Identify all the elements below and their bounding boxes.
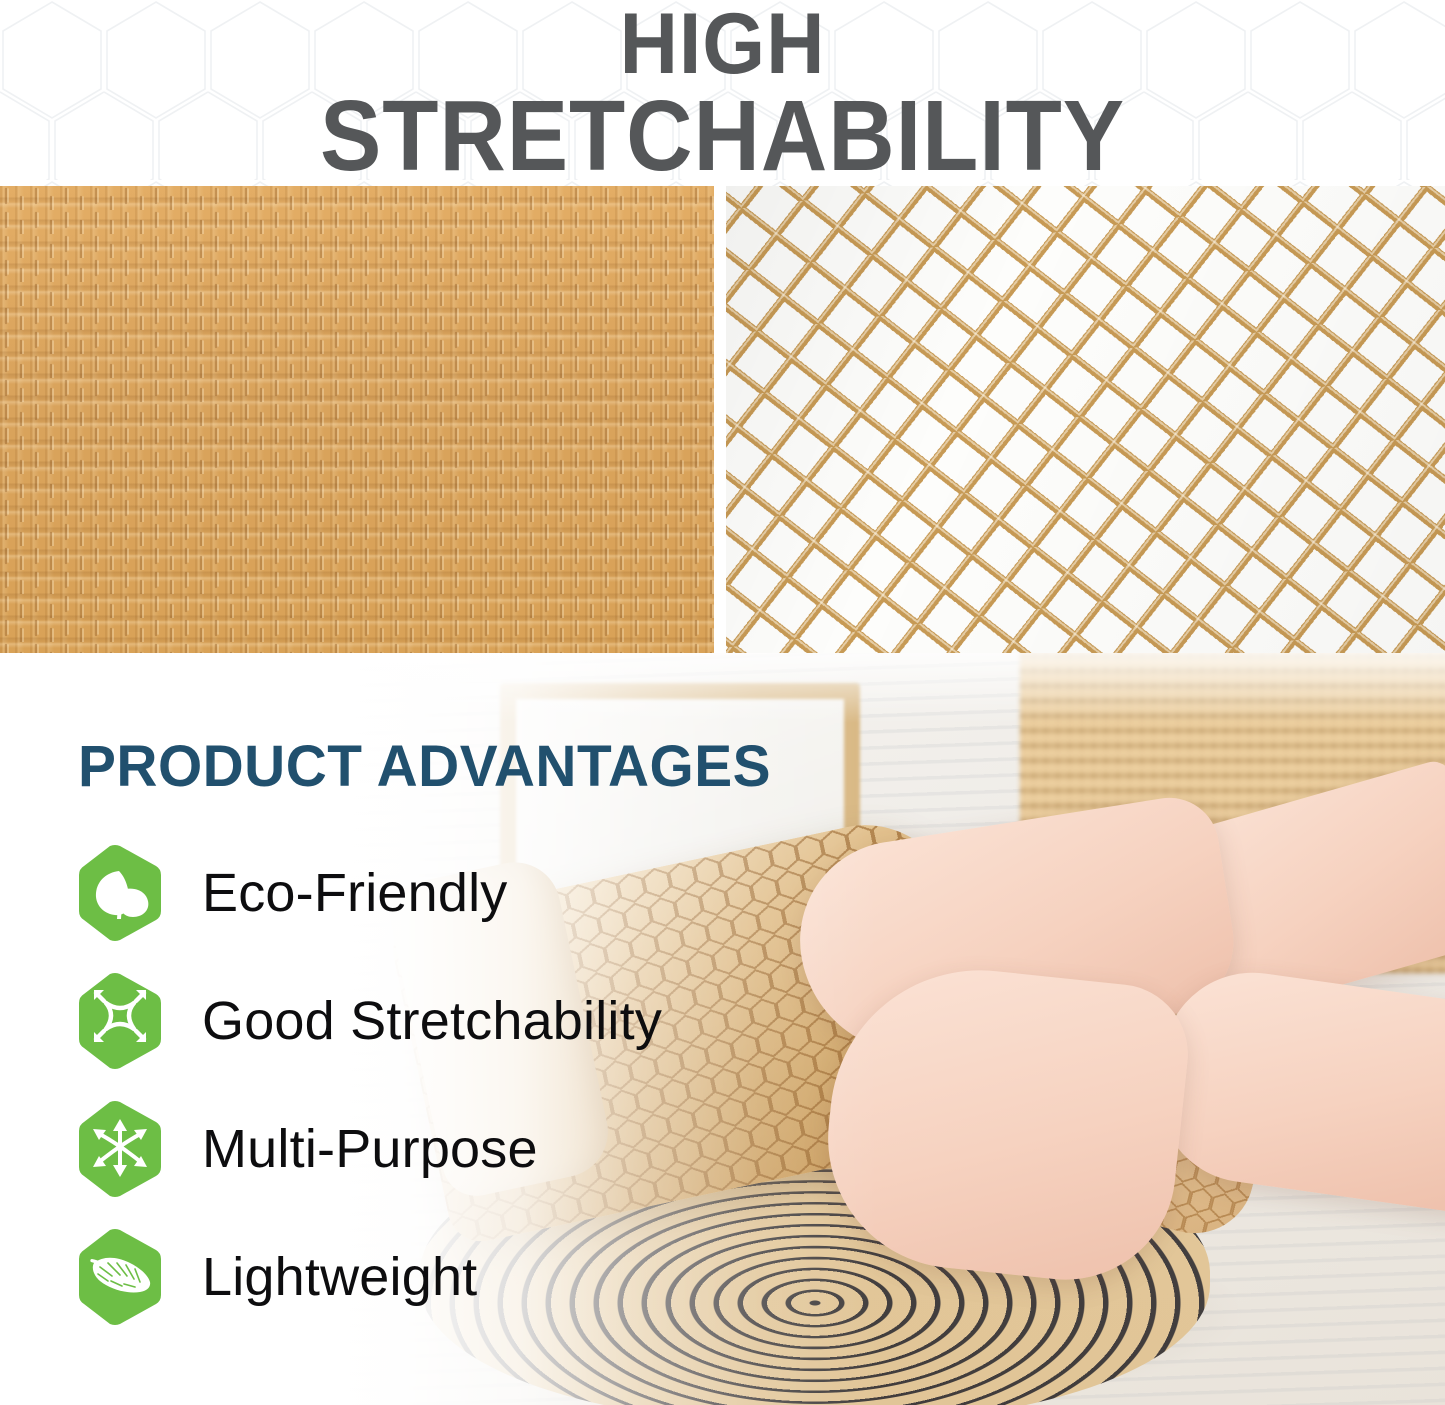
advantages-heading: PRODUCT ADVANTAGES [78, 733, 771, 800]
photo-unstretched-honeycomb [0, 186, 714, 653]
list-item[interactable]: Good Stretchability [78, 957, 978, 1085]
feather-icon [78, 1229, 162, 1325]
list-item[interactable]: Eco-Friendly [78, 829, 978, 957]
list-item-label: Good Stretchability [202, 994, 662, 1048]
header-banner: HIGH STRETCHABILITY [0, 0, 1445, 186]
product-photo-band [0, 186, 1445, 653]
list-item[interactable]: Lightweight [78, 1213, 978, 1341]
advantages-content: PRODUCT ADVANTAGES Eco-Friendly [0, 653, 1445, 1405]
photo-stretched-honeycomb [726, 186, 1445, 653]
title-line-2: STRETCHABILITY [320, 89, 1125, 183]
list-item[interactable]: Multi-Purpose [78, 1085, 978, 1213]
advantages-section: PRODUCT ADVANTAGES Eco-Friendly [0, 653, 1445, 1405]
multi-direction-arrows-icon [78, 1101, 162, 1197]
advantages-list: Eco-Friendly [78, 829, 978, 1341]
page-title: HIGH STRETCHABILITY [0, 0, 1445, 186]
stretch-arrows-icon [78, 973, 162, 1069]
kraft-slit-texture [0, 186, 714, 653]
list-item-label: Lightweight [202, 1250, 477, 1304]
leaf-icon [78, 845, 162, 941]
title-line-1: HIGH [620, 4, 826, 85]
list-item-label: Eco-Friendly [202, 866, 508, 920]
list-item-label: Multi-Purpose [202, 1122, 538, 1176]
photo-shading-overlay [726, 186, 1445, 653]
